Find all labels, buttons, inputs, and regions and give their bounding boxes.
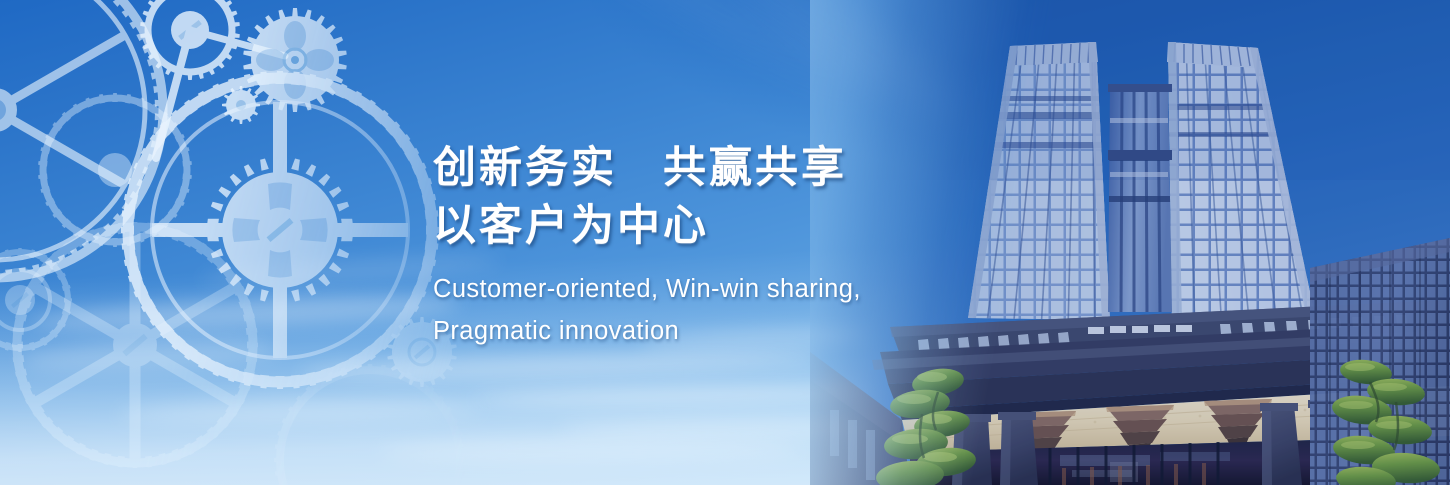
subhead-english-line1: Customer-oriented, Win-win sharing,: [433, 268, 993, 310]
headline-chinese-line1: 创新务实 共赢共享: [433, 140, 993, 196]
banner-copy: 创新务实 共赢共享 以客户为中心 Customer-oriented, Win-…: [433, 140, 993, 352]
headline-chinese-line2: 以客户为中心: [433, 198, 993, 254]
subhead-english-line2: Pragmatic innovation: [433, 310, 993, 352]
hero-banner: 创新务实 共赢共享 以客户为中心 Customer-oriented, Win-…: [0, 0, 1450, 485]
